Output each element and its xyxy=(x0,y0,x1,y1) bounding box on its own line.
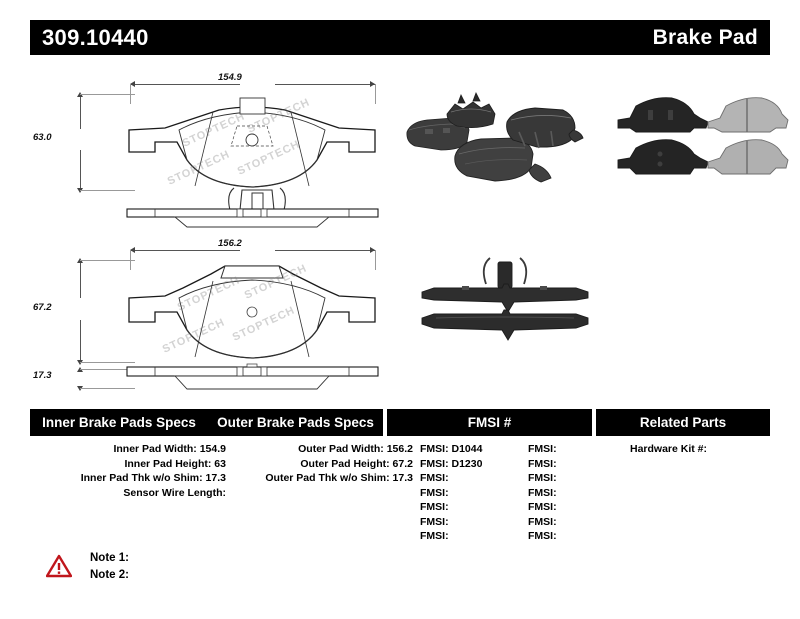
fmsi-row: FMSI: xyxy=(528,457,628,472)
table-header-row: Inner Brake Pads Specs Outer Brake Pads … xyxy=(30,409,770,436)
outer-spec-row-label: Outer Pad Height: xyxy=(300,458,389,470)
inner-spec-row: Inner Pad Thk w/o Shim: 17.3 xyxy=(30,471,226,486)
inner-spec-row-value: 63 xyxy=(211,458,226,470)
table-header-inner: Inner Brake Pads Specs xyxy=(30,409,208,436)
photo-pads-edge-pair xyxy=(418,250,593,350)
product-type: Brake Pad xyxy=(653,26,758,50)
note-item: Note 1: xyxy=(90,550,129,567)
inner-spec-row-label: Inner Pad Thk w/o Shim: xyxy=(81,472,203,484)
fmsi-row: FMSI: xyxy=(528,486,628,501)
fmsi-row-label: FMSI: xyxy=(528,501,557,513)
fmsi-row-label: FMSI: xyxy=(420,530,449,542)
outer-width-dim-label: 156.2 xyxy=(218,238,242,249)
fmsi-row-value: D1230 xyxy=(449,458,483,470)
fmsi-row-label: FMSI: xyxy=(528,458,557,470)
fmsi-row-value: D1044 xyxy=(449,443,483,455)
fmsi-row-label: FMSI: xyxy=(420,443,449,455)
table-body: Inner Pad Width: 154.9Inner Pad Height: … xyxy=(30,436,770,541)
inner-spec-row-value: 17.3 xyxy=(203,472,226,484)
inner-specs-column: Inner Pad Width: 154.9Inner Pad Height: … xyxy=(30,442,226,500)
fmsi-row: FMSI: xyxy=(528,500,628,515)
fmsi-row: FMSI: D1044 xyxy=(420,442,530,457)
technical-drawings: 154.9 63.0 STOPTECH STOPTECH STOPTECH ST… xyxy=(30,62,770,397)
fmsi-row: FMSI: xyxy=(420,529,530,544)
outer-spec-row: Outer Pad Height: 67.2 xyxy=(228,457,413,472)
inner-pad-profile xyxy=(125,207,380,229)
inner-pad-outline xyxy=(125,90,380,195)
outer-spec-row: Outer Pad Width: 156.2 xyxy=(228,442,413,457)
fmsi-row-label: FMSI: xyxy=(420,487,449,499)
fmsi-row-label: FMSI: xyxy=(528,487,557,499)
inner-spec-row-value: 154.9 xyxy=(197,443,226,455)
related-part-row-label: Hardware Kit #: xyxy=(630,443,707,455)
fmsi-row-label: FMSI: xyxy=(420,501,449,513)
inner-spec-row: Sensor Wire Length: xyxy=(30,486,226,501)
outer-height-dim-label: 67.2 xyxy=(33,302,52,313)
part-number: 309.10440 xyxy=(42,25,149,51)
specifications-table: Inner Brake Pads Specs Outer Brake Pads … xyxy=(30,409,770,541)
outer-spec-row-label: Outer Pad Width: xyxy=(298,443,384,455)
inner-height-dim-label: 63.0 xyxy=(33,132,52,143)
header-bar: 309.10440 Brake Pad xyxy=(30,20,770,55)
fmsi-row-label: FMSI: xyxy=(528,472,557,484)
fmsi-row-label: FMSI: xyxy=(420,458,449,470)
outer-thickness-dim-label: 17.3 xyxy=(33,370,52,381)
outer-pad-profile xyxy=(125,363,380,393)
fmsi-row-label: FMSI: xyxy=(420,472,449,484)
inner-spec-row-label: Inner Pad Width: xyxy=(113,443,196,455)
outer-spec-row-value: 156.2 xyxy=(384,443,413,455)
note-item: Note 2: xyxy=(90,567,129,584)
notes-section: Note 1:Note 2: xyxy=(46,550,129,584)
fmsi-column-a: FMSI: D1044FMSI: D1230FMSI:FMSI:FMSI:FMS… xyxy=(420,442,530,544)
inner-spec-row-label: Sensor Wire Length: xyxy=(123,487,226,499)
fmsi-row: FMSI: xyxy=(528,442,628,457)
outer-spec-row-value: 67.2 xyxy=(390,458,413,470)
fmsi-row-label: FMSI: xyxy=(528,443,557,455)
fmsi-row: FMSI: xyxy=(420,500,530,515)
outer-pad-drawing: 156.2 67.2 17.3 STOPTECH STO xyxy=(30,230,380,397)
outer-spec-row-value: 17.3 xyxy=(390,472,413,484)
table-header-outer: Outer Brake Pads Specs xyxy=(208,409,383,436)
inner-spec-row: Inner Pad Height: 63 xyxy=(30,457,226,472)
fmsi-row: FMSI: xyxy=(420,515,530,530)
warning-triangle-icon xyxy=(46,554,72,578)
outer-spec-row-label: Outer Pad Thk w/o Shim: xyxy=(265,472,389,484)
photo-pads-grid xyxy=(610,84,790,202)
inner-width-dim-label: 154.9 xyxy=(218,72,242,83)
related-part-row: Hardware Kit #: xyxy=(630,442,800,457)
inner-spec-row-label: Inner Pad Height: xyxy=(124,458,211,470)
inner-pad-drawing: 154.9 63.0 STOPTECH STOPTECH STOPTECH ST… xyxy=(30,62,380,222)
outer-spec-row: Outer Pad Thk w/o Shim: 17.3 xyxy=(228,471,413,486)
fmsi-row: FMSI: xyxy=(420,486,530,501)
outer-specs-column: Outer Pad Width: 156.2Outer Pad Height: … xyxy=(228,442,413,486)
related-parts-column: Hardware Kit #: xyxy=(630,442,800,457)
fmsi-row: FMSI: xyxy=(420,471,530,486)
inner-spec-row: Inner Pad Width: 154.9 xyxy=(30,442,226,457)
fmsi-row: FMSI: xyxy=(528,515,628,530)
note-list: Note 1:Note 2: xyxy=(90,550,129,584)
table-header-fmsi: FMSI # xyxy=(387,409,592,436)
table-header-related-parts: Related Parts xyxy=(596,409,770,436)
fmsi-row: FMSI: xyxy=(528,471,628,486)
fmsi-row-label: FMSI: xyxy=(528,516,557,528)
fmsi-column-b: FMSI:FMSI:FMSI:FMSI:FMSI:FMSI:FMSI: xyxy=(528,442,628,544)
fmsi-row-label: FMSI: xyxy=(528,530,557,542)
photo-pads-angled xyxy=(395,84,585,204)
outer-pad-outline xyxy=(125,256,380,364)
fmsi-row: FMSI: xyxy=(528,529,628,544)
fmsi-row-label: FMSI: xyxy=(420,516,449,528)
fmsi-row: FMSI: D1230 xyxy=(420,457,530,472)
